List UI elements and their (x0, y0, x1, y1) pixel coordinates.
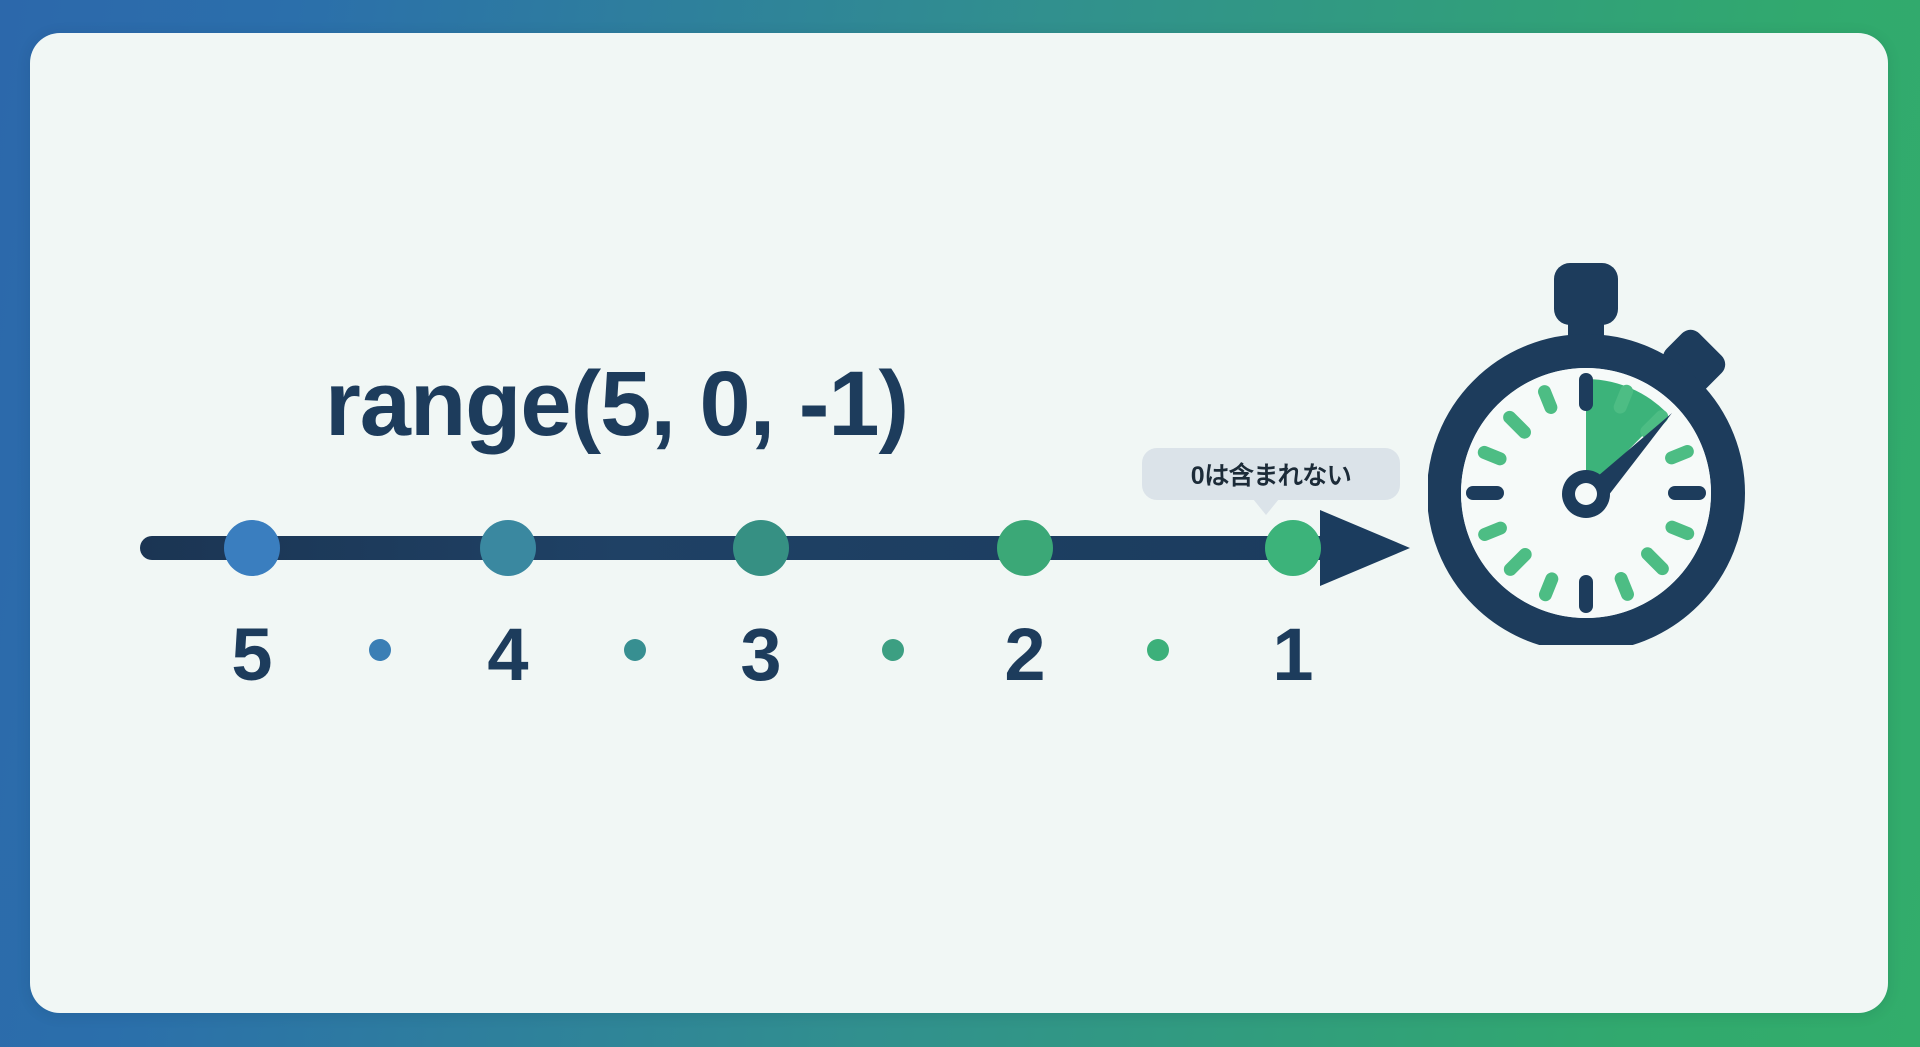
page-title: range(5, 0, -1) (325, 358, 908, 450)
separator-dot-1 (369, 639, 391, 661)
number-line-node-5[interactable] (224, 520, 280, 576)
separator-dot-2 (624, 639, 646, 661)
axis-arrow-head (1320, 510, 1410, 586)
number-line-label-2: 2 (1004, 618, 1045, 692)
axis-line (140, 536, 1340, 560)
number-line-node-3[interactable] (733, 520, 789, 576)
number-line-label-3: 3 (740, 618, 781, 692)
tooltip-label: 0は含まれない (1191, 456, 1351, 492)
number-line-label-5: 5 (231, 618, 272, 692)
slide-card: range(5, 0, -1) 54321 0は含まれない (30, 33, 1888, 1013)
number-line-node-1[interactable] (1265, 520, 1321, 576)
separator-dot-3 (882, 639, 904, 661)
tooltip-zero-excluded: 0は含まれない (1142, 448, 1400, 500)
number-line-label-4: 4 (487, 618, 528, 692)
stopwatch-icon-wrapper (1428, 255, 1748, 645)
stopwatch-icon (1428, 255, 1748, 645)
separator-dot-4 (1147, 639, 1169, 661)
number-line-label-1: 1 (1272, 618, 1313, 692)
number-line-node-4[interactable] (480, 520, 536, 576)
number-line-node-2[interactable] (997, 520, 1053, 576)
tooltip-tail-icon (1253, 499, 1279, 515)
